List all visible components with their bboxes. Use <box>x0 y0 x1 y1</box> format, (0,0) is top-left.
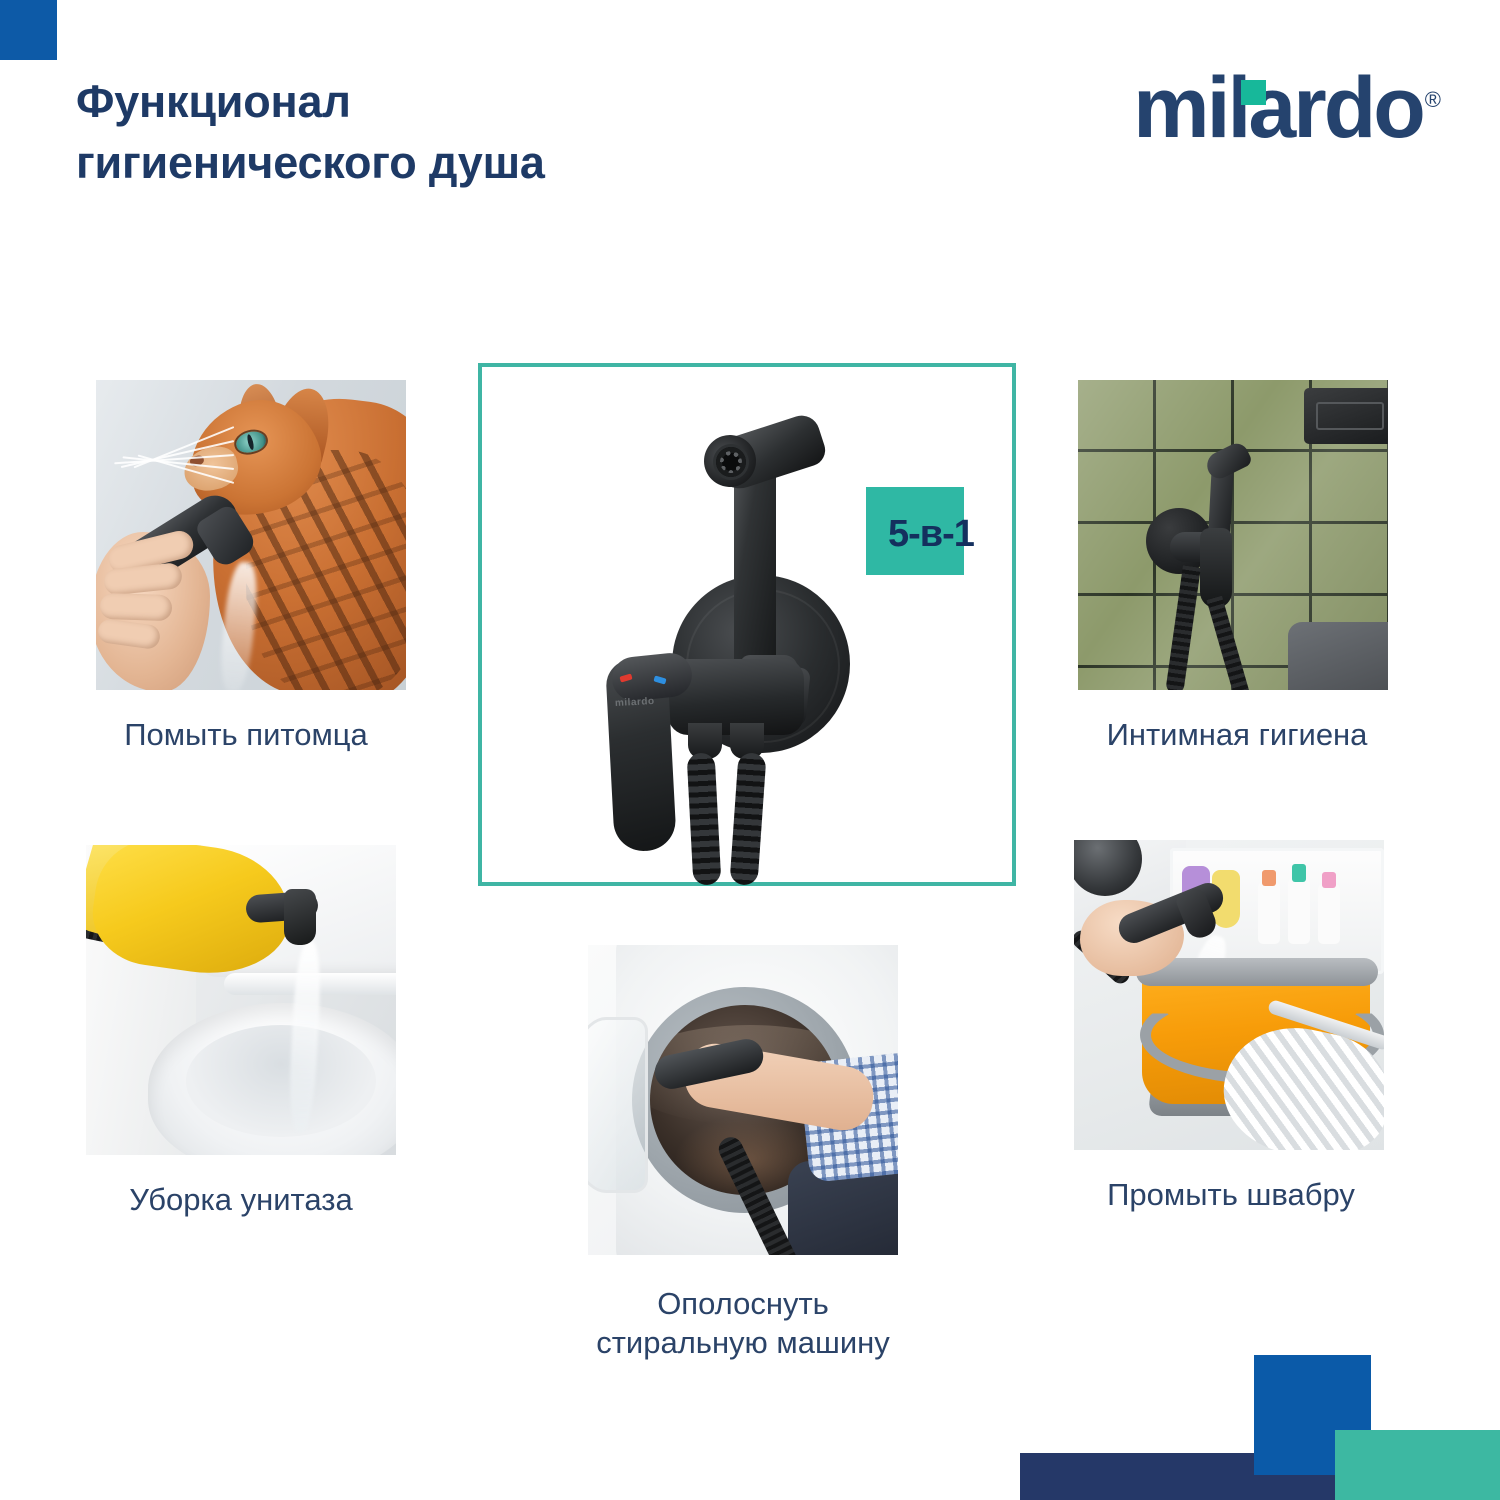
registered-trademark-icon: ® <box>1425 87 1438 112</box>
photo-intimate-hygiene <box>1078 380 1388 690</box>
feature-tile-toilet: Уборка унитаза <box>86 845 396 1220</box>
cleaner-bottle-1 <box>1258 882 1280 944</box>
shower-hose-left <box>687 752 722 885</box>
feature-tile-pet: Помыть питомца <box>96 380 406 755</box>
brand-name-text: milardo <box>1133 60 1423 156</box>
toilet-pan-inner <box>186 1025 376 1137</box>
flush-plate <box>1304 388 1388 444</box>
feature-caption-toilet: Уборка унитаза <box>86 1181 396 1220</box>
photo-rinse-washing-machine <box>588 945 898 1255</box>
cat-whiskers <box>104 420 234 500</box>
finger-3 <box>100 593 173 621</box>
feature-tile-washer: Ополоснуть стиральную машину <box>588 945 898 1363</box>
toilet-bowl-edge <box>1288 622 1388 690</box>
feature-caption-mop: Промыть швабру <box>1078 1176 1384 1215</box>
page-title-line-1: Функционал <box>76 72 856 133</box>
feature-tile-intimate: Интимная гигиена <box>1078 380 1388 755</box>
feature-caption-pet: Помыть питомца <box>86 716 406 755</box>
faucet-brand-engraving: milardo <box>615 696 655 709</box>
cleaner-bottle-3 <box>1318 884 1340 944</box>
photo-wash-pet <box>96 380 406 690</box>
cleaner-bottle-2 <box>1288 878 1310 944</box>
feature-caption-washer: Ополоснуть стиральную машину <box>588 1285 898 1363</box>
brand-dot-icon <box>1241 80 1266 105</box>
brand-logo: milardo® <box>1133 68 1438 160</box>
brand-wordmark: milardo® <box>1133 68 1438 150</box>
shower-hose-right <box>729 752 766 886</box>
badge-5-in-1-label: 5-в-1 <box>888 513 974 556</box>
page-title: Функционал гигиенического душа <box>76 72 856 194</box>
corner-accent-teal-rect <box>1335 1430 1500 1500</box>
page-title-line-2: гигиенического душа <box>76 133 856 194</box>
bidet-lever <box>1200 528 1232 608</box>
sprayer-head-toilet <box>284 889 316 945</box>
feature-caption-intimate: Интимная гигиена <box>1086 716 1388 755</box>
product-frame: milardo <box>478 363 1016 886</box>
washing-machine-door-glass <box>588 1017 648 1193</box>
photo-rinse-mop <box>1074 840 1384 1150</box>
feature-tile-mop: Промыть швабру <box>1074 840 1384 1215</box>
photo-clean-toilet <box>86 845 396 1155</box>
mop-bucket-rim <box>1136 958 1378 986</box>
product-illustration: milardo <box>482 367 1012 882</box>
corner-accent-top-left <box>0 0 57 60</box>
